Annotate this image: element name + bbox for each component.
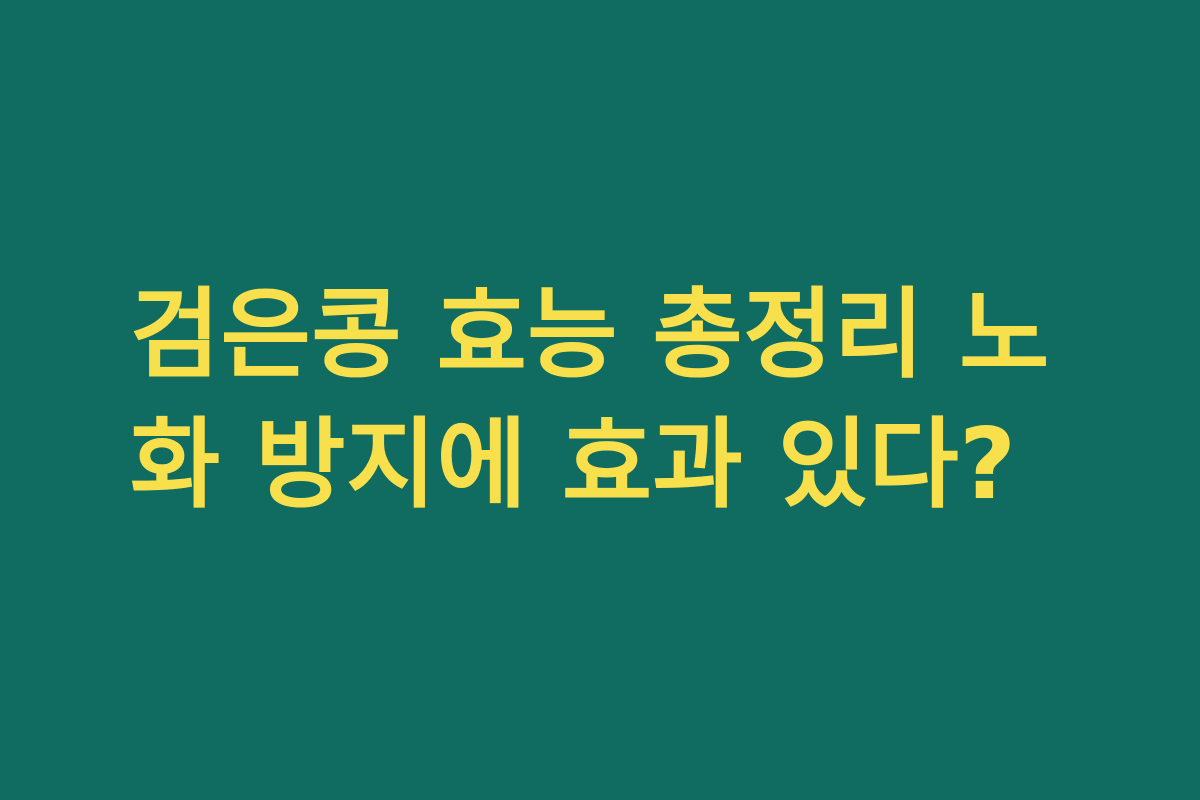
- text-card: 검은콩 효능 총정리 노 화 방지에 효과 있다?: [0, 0, 1200, 800]
- headline-line-1: 검은콩 효능 총정리 노: [130, 270, 1050, 400]
- page-title: 검은콩 효능 총정리 노 화 방지에 효과 있다?: [130, 270, 1050, 530]
- headline-line-2: 화 방지에 효과 있다?: [130, 400, 1050, 530]
